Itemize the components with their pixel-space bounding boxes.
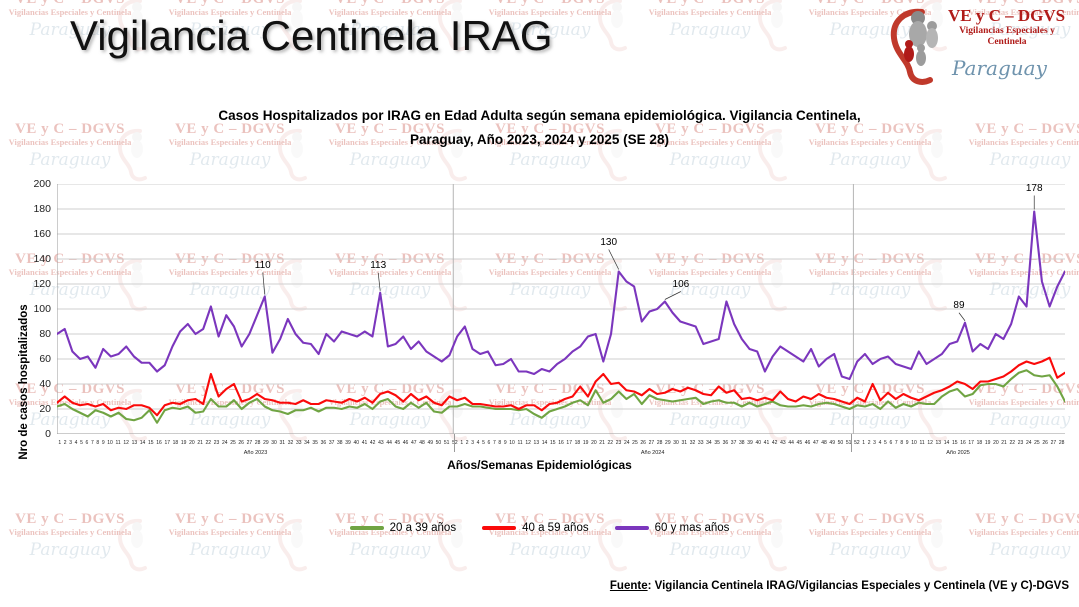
x-axis-tick-label: 48 xyxy=(820,436,828,452)
x-axis-tick-label: 20 xyxy=(188,436,196,452)
x-axis-tick-label: 28 xyxy=(1057,436,1065,452)
x-axis-tick-label: 38 xyxy=(738,436,746,452)
watermark-figure-icon xyxy=(116,126,156,182)
plot-svg xyxy=(57,184,1065,434)
x-axis-tick-label: 43 xyxy=(377,436,385,452)
x-axis-tick-label: 18 xyxy=(171,436,179,452)
x-axis-tick-label: 13 xyxy=(532,436,540,452)
x-axis-tick-label: 20 xyxy=(992,436,1000,452)
x-axis-tick-label: 31 xyxy=(278,436,286,452)
legend-label: 60 y mas años xyxy=(655,522,730,534)
x-axis-tick-label: 24 xyxy=(1025,436,1033,452)
x-axis-tick-label: 35 xyxy=(311,436,319,452)
x-axis-tick-label: 10 xyxy=(106,436,114,452)
watermark-tile: VE y C – DGVSVigilancias Especiales y Ce… xyxy=(950,512,1079,560)
x-axis-tick-label: 45 xyxy=(393,436,401,452)
x-axis-tick-label: 13 xyxy=(130,436,138,452)
x-axis-tick-label: 19 xyxy=(180,436,188,452)
x-axis-tick-label: 16 xyxy=(557,436,565,452)
x-axis-tick-label: 30 xyxy=(672,436,680,452)
series-line xyxy=(57,370,1065,423)
x-axis-tick-label: 25 xyxy=(1033,436,1041,452)
legend-item[interactable]: 40 a 59 años xyxy=(482,522,589,534)
x-axis-tick-label: 17 xyxy=(163,436,171,452)
y-axis-tick-label: 0 xyxy=(45,428,51,440)
x-axis-tick-label: 12 xyxy=(524,436,532,452)
logo-figure-icon xyxy=(888,4,950,88)
x-axis-tick-label: 31 xyxy=(680,436,688,452)
data-point-label: 130 xyxy=(600,237,617,248)
data-label-leader-line xyxy=(378,273,380,291)
x-axis-tick-label: 50 xyxy=(836,436,844,452)
watermark-figure-icon xyxy=(916,126,956,182)
y-axis-tick-label: 180 xyxy=(33,203,51,215)
x-axis-tick-label: 22 xyxy=(1008,436,1016,452)
x-axis-tick-label: 26 xyxy=(1041,436,1049,452)
watermark-tile: VE y C – DGVSVigilancias Especiales y Ce… xyxy=(0,512,150,560)
x-axis-tick-label: 37 xyxy=(729,436,737,452)
x-axis-tick-label: 10 xyxy=(910,436,918,452)
plot-area: 0204060801001201401601802001101131301068… xyxy=(57,184,1065,434)
y-axis-tick-label: 160 xyxy=(33,228,51,240)
x-axis-tick-label: 22 xyxy=(606,436,614,452)
x-axis-tick-label: 27 xyxy=(1049,436,1057,452)
x-axis-year-label: Año 2025 xyxy=(946,450,970,456)
x-axis-tick-label: 25 xyxy=(631,436,639,452)
x-axis-tick-label: 33 xyxy=(295,436,303,452)
x-axis-tick-label: 34 xyxy=(705,436,713,452)
x-axis-tick-label: 36 xyxy=(721,436,729,452)
source-footnote: Fuente: Vigilancia Centinela IRAG/Vigila… xyxy=(610,580,1069,592)
watermark-tile: VE y C – DGVSVigilancias Especiales y Ce… xyxy=(0,122,150,170)
x-axis-tick-label: 44 xyxy=(787,436,795,452)
page-title: Vigilancia Centinela IRAG xyxy=(70,12,553,60)
legend-label: 40 a 59 años xyxy=(522,522,589,534)
x-axis-tick-label: 49 xyxy=(828,436,836,452)
y-axis-tick-label: 20 xyxy=(39,403,51,415)
x-axis-tick-label: 39 xyxy=(746,436,754,452)
data-point-label: 106 xyxy=(673,279,690,290)
watermark-tile: VE y C – DGVSVigilancias Especiales y Ce… xyxy=(790,512,950,560)
legend-label: 20 a 39 años xyxy=(390,522,457,534)
x-axis-tick-label: 22 xyxy=(204,436,212,452)
watermark-tile: VE y C – DGVSVigilancias Especiales y Ce… xyxy=(470,512,630,560)
legend-item[interactable]: 20 a 39 años xyxy=(350,522,457,534)
y-axis-tick-label: 140 xyxy=(33,253,51,265)
x-axis-tick-label: 41 xyxy=(360,436,368,452)
x-axis-tick-label: 30 xyxy=(270,436,278,452)
page-header: Vigilancia Centinela IRAG VE y C – DGVS … xyxy=(0,0,1079,92)
watermark-tile: VE y C – DGVSVigilancias Especiales y Ce… xyxy=(630,512,790,560)
watermark-tile: VE y C – DGVSVigilancias Especiales y Ce… xyxy=(950,122,1079,170)
x-axis-tick-label: 50 xyxy=(434,436,442,452)
series-line xyxy=(57,212,1065,380)
y-axis-tick-label: 80 xyxy=(39,328,51,340)
x-axis-tick-label: 21 xyxy=(1000,436,1008,452)
chart-legend: 20 a 39 años40 a 59 años60 y mas años xyxy=(0,522,1079,534)
watermark-tile: VE y C – DGVSVigilancias Especiales y Ce… xyxy=(150,512,310,560)
x-axis-tick-label: 15 xyxy=(549,436,557,452)
x-axis-tick-label: 24 xyxy=(221,436,229,452)
x-axis-tick-label: 40 xyxy=(352,436,360,452)
x-axis-tick-label: 42 xyxy=(771,436,779,452)
data-point-label: 178 xyxy=(1026,183,1043,194)
x-axis-tick-label: 19 xyxy=(984,436,992,452)
x-axis-tick-label: 20 xyxy=(590,436,598,452)
x-axis-tick-label: 45 xyxy=(795,436,803,452)
x-axis-tick-label: 11 xyxy=(918,436,926,452)
x-axis-tick-label: 14 xyxy=(540,436,548,452)
x-axis-tick-label: 32 xyxy=(688,436,696,452)
legend-color-swatch xyxy=(350,526,384,530)
x-axis-tick-label: 19 xyxy=(582,436,590,452)
x-axis-tick-label: 11 xyxy=(516,436,524,452)
data-point-label: 89 xyxy=(953,300,964,311)
x-axis-year-label: Año 2023 xyxy=(244,450,268,456)
x-axis-tick-label: 23 xyxy=(614,436,622,452)
x-axis-tick-label: 46 xyxy=(803,436,811,452)
x-axis-year-separator xyxy=(454,434,455,452)
logo-subtitle: Vigilancias Especiales y Centinela xyxy=(942,26,1072,49)
y-axis-tick-label: 60 xyxy=(39,353,51,365)
x-axis-tick-label: 34 xyxy=(303,436,311,452)
x-axis-tick-label: 38 xyxy=(336,436,344,452)
x-axis-tick-label: 21 xyxy=(196,436,204,452)
x-axis-tick-label: 42 xyxy=(369,436,377,452)
series-line xyxy=(57,358,1065,416)
y-axis-tick-label: 40 xyxy=(39,378,51,390)
x-axis-tick-label: 47 xyxy=(410,436,418,452)
x-axis-tick-label: 15 xyxy=(147,436,155,452)
data-point-label: 110 xyxy=(255,260,271,271)
x-axis-tick-label: 18 xyxy=(975,436,983,452)
x-axis-year-label: Año 2024 xyxy=(641,450,665,456)
x-axis-tick-label: 24 xyxy=(623,436,631,452)
x-axis-year-separator xyxy=(851,434,852,452)
data-label-leader-line xyxy=(665,292,681,300)
chart-title-line1: Casos Hospitalizados por IRAG en Edad Ad… xyxy=(160,104,920,128)
chart-title-line2: Paraguay, Año 2023, 2024 y 2025 (SE 28) xyxy=(160,128,920,152)
y-axis-tick-label: 120 xyxy=(33,278,51,290)
x-axis-tick-label: 23 xyxy=(1016,436,1024,452)
source-text: : Vigilancia Centinela IRAG/Vigilancias … xyxy=(648,580,1069,592)
source-label: Fuente xyxy=(610,580,648,592)
x-axis-tick-label: 43 xyxy=(779,436,787,452)
x-axis-tick-label: 29 xyxy=(664,436,672,452)
data-label-leader-line xyxy=(959,313,965,321)
x-axis-tick-label: 47 xyxy=(812,436,820,452)
x-axis-tick-label: 40 xyxy=(754,436,762,452)
x-axis-tick-label: 25 xyxy=(229,436,237,452)
x-axis-tick-label: 12 xyxy=(122,436,130,452)
x-axis-tick-label: 46 xyxy=(401,436,409,452)
x-axis-tick-label: 23 xyxy=(212,436,220,452)
x-axis-tick-label: 39 xyxy=(344,436,352,452)
watermark-tile: VE y C – DGVSVigilancias Especiales y Ce… xyxy=(310,512,470,560)
x-axis-tick-label: 32 xyxy=(286,436,294,452)
x-axis-label: Años/Semanas Epidemiológicas xyxy=(0,458,1079,472)
x-axis-tick-label: 17 xyxy=(565,436,573,452)
legend-color-swatch xyxy=(615,526,649,530)
x-axis-tick-label: 12 xyxy=(926,436,934,452)
logo-title: VE y C – DGVS xyxy=(948,6,1065,26)
x-axis-tick-label: 10 xyxy=(508,436,516,452)
legend-color-swatch xyxy=(482,526,516,530)
chart: Nro de casos hospitalizados 020406080100… xyxy=(0,176,1079,476)
logo-country: Paraguay xyxy=(952,56,1047,80)
y-axis-tick-label: 100 xyxy=(33,303,51,315)
chart-title: Casos Hospitalizados por IRAG en Edad Ad… xyxy=(160,104,920,151)
x-axis-tick-label: 37 xyxy=(327,436,335,452)
x-axis-tick-label: 51 xyxy=(443,436,451,452)
x-axis-tick-label: 16 xyxy=(155,436,163,452)
x-axis-tick-label: 48 xyxy=(418,436,426,452)
x-axis-tick-label: 52 xyxy=(853,436,861,452)
x-axis-tick-label: 21 xyxy=(598,436,606,452)
x-axis-tick-label: 33 xyxy=(697,436,705,452)
x-axis-tick-label: 35 xyxy=(713,436,721,452)
x-axis-tick-label: 41 xyxy=(762,436,770,452)
x-axis-ticks: 1234567891011121314151617181920212223242… xyxy=(57,436,1065,452)
data-point-label: 113 xyxy=(370,260,386,271)
x-axis-tick-label: 49 xyxy=(426,436,434,452)
x-axis-tick-label: 11 xyxy=(114,436,122,452)
y-axis-tick-label: 200 xyxy=(33,178,51,190)
x-axis-tick-label: 44 xyxy=(385,436,393,452)
x-axis-tick-label: 14 xyxy=(138,436,146,452)
organization-logo: VE y C – DGVS Vigilancias Especiales y C… xyxy=(890,2,1075,88)
x-axis-tick-label: 13 xyxy=(934,436,942,452)
x-axis-tick-label: 18 xyxy=(573,436,581,452)
x-axis-tick-label: 36 xyxy=(319,436,327,452)
legend-item[interactable]: 60 y mas años xyxy=(615,522,730,534)
